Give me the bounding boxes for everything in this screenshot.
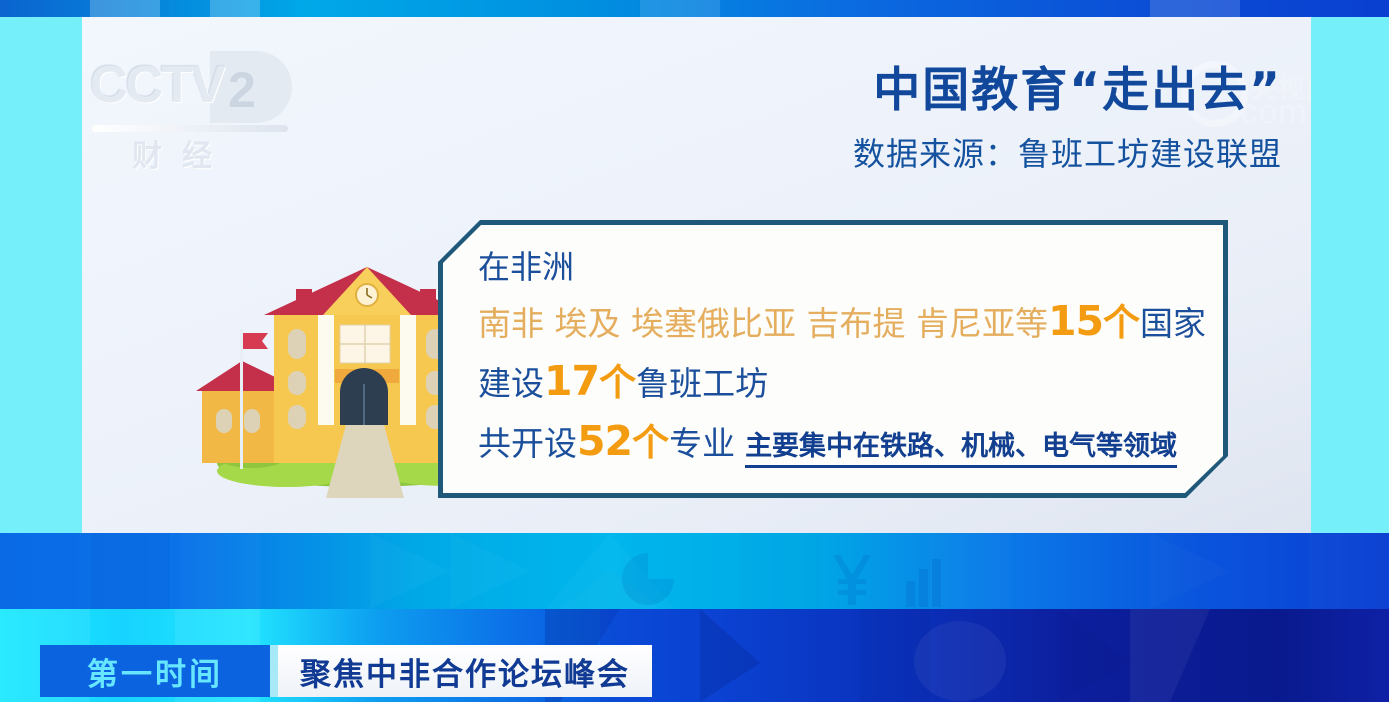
program-name-block: 第一时间	[40, 645, 270, 697]
major-fields-emphasis: 主要集中在铁路、机械、电气等领域	[745, 431, 1177, 468]
workshop-count-unit: 个	[599, 361, 636, 404]
stat-line-region: 在非洲	[478, 246, 1208, 288]
country-count-unit: 个	[1103, 301, 1140, 344]
lower-third-ticker: 第一时间 聚焦中非合作论坛峰会	[40, 645, 652, 697]
main-content-area: CCTV 2 财经 央视网 .com 中国教育“走出去” 数据来源：鲁班工坊建设…	[82, 17, 1311, 533]
major-count-unit: 个	[632, 421, 669, 464]
ticker-divider	[270, 645, 278, 697]
program-name: 第一时间	[87, 649, 223, 694]
stat-line-majors: 共开设52个专业主要集中在铁路、机械、电气等领域	[478, 414, 1208, 468]
red-flag	[243, 333, 268, 349]
cctv-wordmark: CCTV	[90, 55, 224, 115]
headline-block: 中国教育“走出去” 数据来源：鲁班工坊建设联盟	[722, 63, 1282, 175]
workshop-suffix: 鲁班工坊	[636, 364, 768, 403]
flag-pole	[240, 329, 243, 469]
major-suffix: 专业	[669, 424, 735, 463]
country-list: 南非 埃及 埃塞俄比亚 吉布提 肯尼亚等	[478, 304, 1048, 343]
data-source-label: 数据来源：鲁班工坊建设联盟	[722, 129, 1282, 175]
topic-headline: 聚焦中非合作论坛峰会	[300, 649, 630, 694]
stat-line-workshops: 建设17个鲁班工坊	[478, 354, 1208, 408]
right-cyan-rail	[1311, 17, 1389, 533]
stat-line-countries: 南非 埃及 埃塞俄比亚 吉布提 肯尼亚等15个国家	[478, 294, 1208, 348]
broadcast-graphic-screen: CCTV 2 财经 央视网 .com 中国教育“走出去” 数据来源：鲁班工坊建设…	[0, 0, 1389, 702]
major-prefix: 共开设	[478, 424, 577, 463]
cctv2-logo: CCTV 2 财经	[90, 47, 290, 157]
page-title: 中国教育“走出去”	[722, 63, 1282, 119]
workshop-count: 17	[544, 357, 599, 405]
topic-block: 聚焦中非合作论坛峰会	[278, 645, 652, 697]
channel-name-label: 财经	[132, 131, 232, 175]
country-count: 15	[1048, 297, 1103, 345]
left-cyan-rail	[0, 17, 82, 533]
channel-number: 2	[228, 61, 256, 119]
country-count-suffix: 国家	[1140, 304, 1206, 343]
workshop-prefix: 建设	[478, 364, 544, 403]
top-gradient-bar	[0, 0, 1389, 17]
major-count: 52	[577, 417, 632, 465]
band-upper-row	[0, 533, 1389, 609]
statistics-panel: 在非洲 南非 埃及 埃塞俄比亚 吉布提 肯尼亚等15个国家 建设17个鲁班工坊 …	[438, 220, 1228, 498]
